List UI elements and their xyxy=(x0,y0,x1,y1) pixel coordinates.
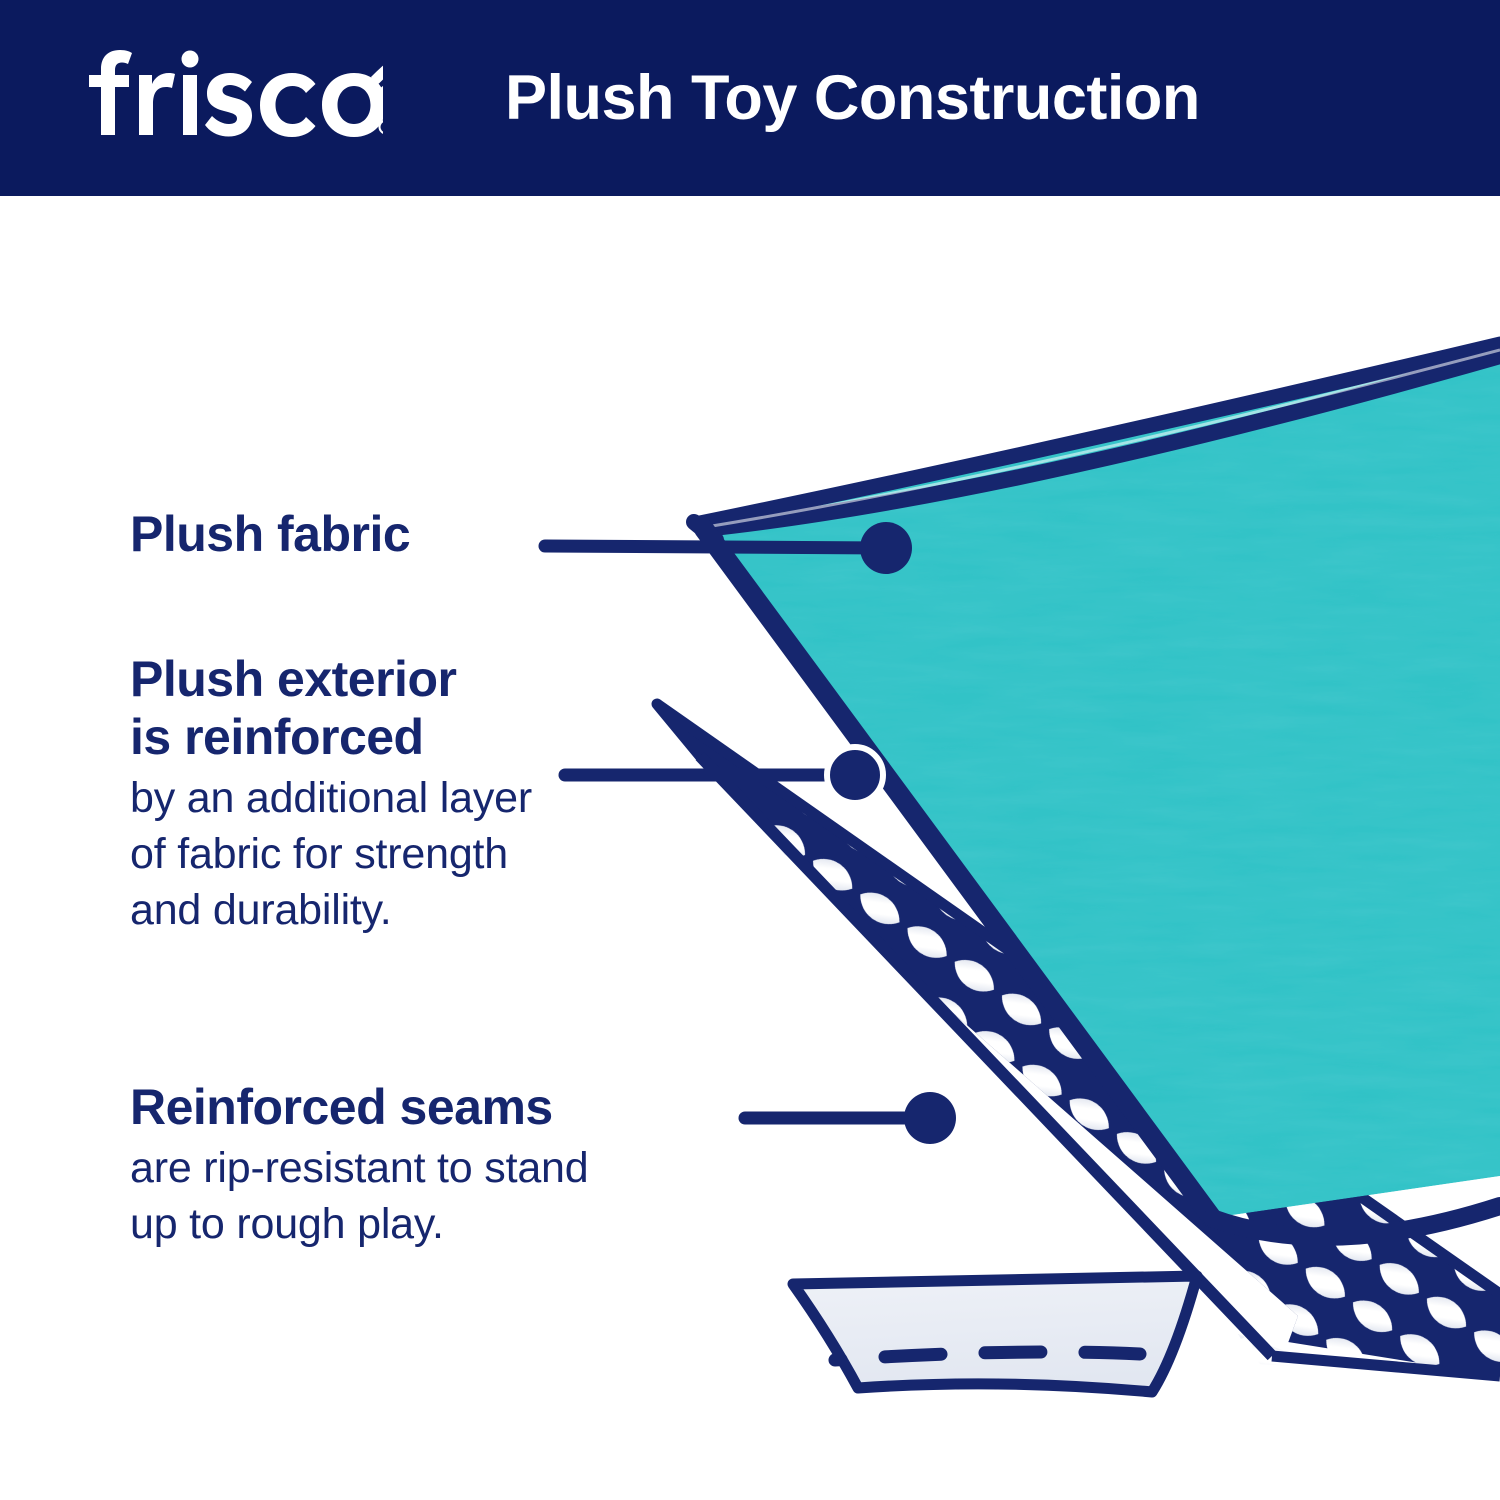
callout-reinforced-seams: Reinforced seams are rip-resistant to st… xyxy=(130,1078,588,1252)
callout-dot-plush-exterior xyxy=(827,747,883,803)
frisco-logo: R xyxy=(83,47,383,147)
page-title: Plush Toy Construction xyxy=(505,52,1200,144)
callout-heading-reinforced-seams: Reinforced seams xyxy=(130,1078,588,1136)
callout-body-line-2: of fabric for strength xyxy=(130,826,532,882)
infographic-page: R Plush Toy Construction xyxy=(0,0,1500,1500)
callout-body-plush-exterior: by an additional layer of fabric for str… xyxy=(130,770,532,938)
callout-heading-line-1: Plush exterior xyxy=(130,650,532,708)
page-header: R Plush Toy Construction xyxy=(0,0,1500,196)
callout-body-line-1: by an additional layer xyxy=(130,770,532,826)
callout-body-line-1: are rip-resistant to stand xyxy=(130,1140,588,1196)
callout-leader-reinforced-seams xyxy=(745,1092,956,1144)
callout-plush-exterior: Plush exterior is reinforced by an addit… xyxy=(130,650,532,938)
callout-plush-fabric: Plush fabric xyxy=(130,505,410,563)
callout-body-line-3: and durability. xyxy=(130,882,532,938)
callout-dot-plush-fabric xyxy=(860,522,912,574)
callout-dot-reinforced-seams xyxy=(904,1092,956,1144)
seam-flap xyxy=(793,1276,1197,1392)
callout-heading-line-2: is reinforced xyxy=(130,708,532,766)
callout-heading-plush-fabric: Plush fabric xyxy=(130,505,410,563)
callout-body-line-2: up to rough play. xyxy=(130,1196,588,1252)
callout-body-reinforced-seams: are rip-resistant to stand up to rough p… xyxy=(130,1140,588,1252)
